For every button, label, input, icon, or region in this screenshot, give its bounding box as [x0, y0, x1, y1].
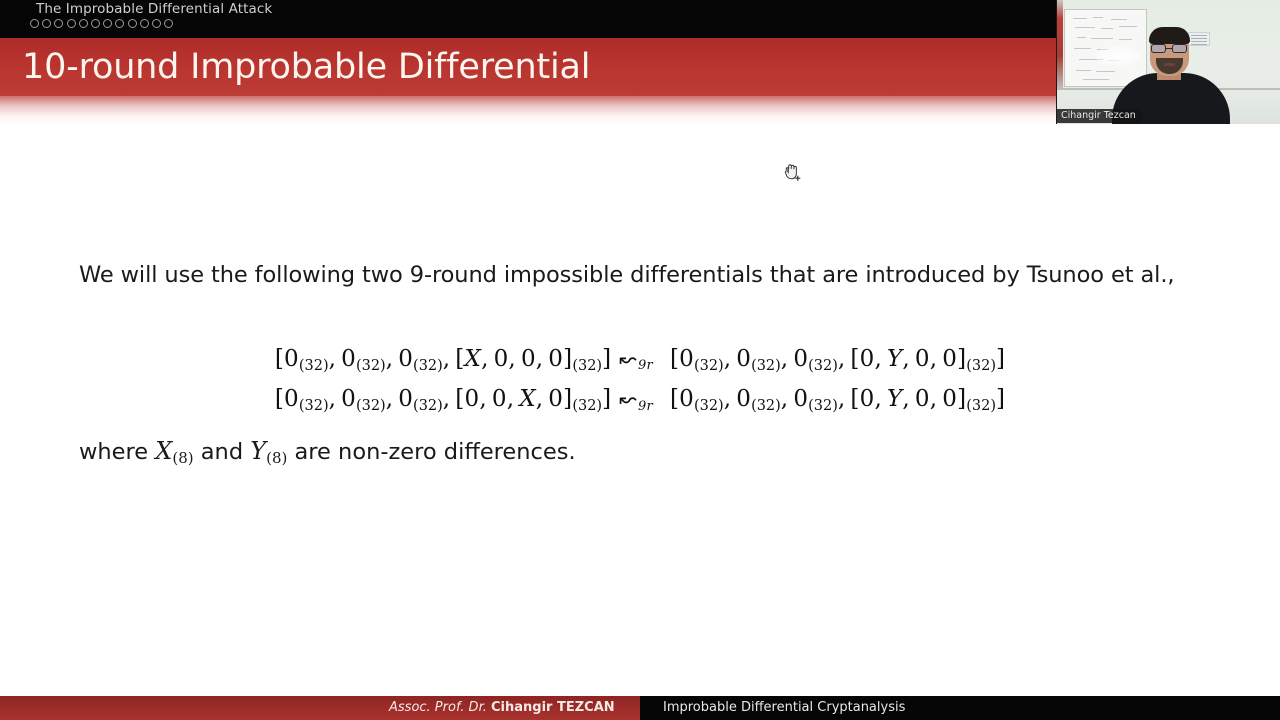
slide-footer: Assoc. Prof. Dr. Cihangir TEZCAN Improba… [0, 696, 1280, 720]
equation-row-2: [0(32),0(32),0(32),[0,0,X,0](32)]↜9r[0(3… [0, 383, 1280, 422]
not-implies-arrow-icon: ↜ [619, 343, 637, 375]
footer-author-name: Cihangir TEZCAN [491, 700, 615, 715]
equation-2-relation-subscript: 9r [638, 399, 653, 414]
where-variable-y: Y [250, 437, 266, 465]
webcam-person-mouth [1164, 63, 1175, 66]
webcam-whiteboard-glare [1095, 46, 1141, 66]
where-conjunction: and [201, 439, 243, 465]
equation-2-right: [0(32),0(32),0(32),[0,Y,0,0](32)] [670, 386, 1005, 412]
presentation-slide: The Improbable Differential Attack 10-ro… [0, 0, 1280, 720]
webcam-wall-note [1188, 32, 1210, 46]
webcam-wall-red-strip [1057, 0, 1063, 92]
webcam-whiteboard [1064, 9, 1147, 87]
navigation-slide-dot[interactable] [128, 19, 137, 28]
where-prefix: where [79, 439, 148, 465]
equation-2-relation: ↜9r [619, 383, 653, 422]
equation-2-left: [0(32),0(32),0(32),[0,0,X,0](32)] [275, 386, 611, 412]
webcam-participant-name-label: Cihangir Tezcan [1057, 109, 1142, 123]
navigation-slide-dot[interactable] [152, 19, 161, 28]
where-clause: where X(8) and Y(8) are non-zero differe… [79, 435, 576, 474]
navigation-slide-dot[interactable] [42, 19, 51, 28]
not-implies-arrow-icon: ↜ [619, 383, 637, 415]
navigation-slide-dot[interactable] [67, 19, 76, 28]
webcam-person-glasses [1150, 44, 1189, 53]
webcam-glasses-left-lens [1151, 44, 1166, 53]
navigation-slide-dot[interactable] [164, 19, 173, 28]
navigation-slide-dot[interactable] [103, 19, 112, 28]
equation-1-relation: ↜9r [619, 343, 653, 382]
where-variable-x: X [155, 437, 172, 465]
equation-1-relation-subscript: 9r [638, 358, 653, 373]
navigation-slide-dot[interactable] [79, 19, 88, 28]
navigation-slide-dot[interactable] [115, 19, 124, 28]
footer-author: Assoc. Prof. Dr. Cihangir TEZCAN [389, 700, 615, 715]
footer-talk-title: Improbable Differential Cryptanalysis [663, 700, 905, 715]
webcam-video-overlay[interactable]: Cihangir Tezcan [1056, 0, 1280, 124]
navigation-slide-dot[interactable] [54, 19, 63, 28]
page-title: 10-round Improbable Differential [22, 44, 590, 90]
webcam-glasses-right-lens [1172, 44, 1187, 53]
slide-body: We will use the following two 9-round im… [0, 130, 1280, 690]
equation-1-right: [0(32),0(32),0(32),[0,Y,0,0](32)] [670, 346, 1005, 372]
navigation-slide-dot[interactable] [140, 19, 149, 28]
intro-paragraph: We will use the following two 9-round im… [79, 258, 1201, 293]
where-suffix: are non-zero differences. [295, 439, 576, 465]
equation-row-1: [0(32),0(32),0(32),[X,0,0,0](32)]↜9r[0(3… [0, 343, 1280, 382]
navigation-slide-dots[interactable] [30, 19, 173, 28]
navigation-slide-dot[interactable] [30, 19, 39, 28]
navigation-section-title: The Improbable Differential Attack [36, 1, 272, 17]
footer-author-title: Assoc. Prof. Dr. [389, 700, 487, 715]
where-variable-y-subscript: (8) [266, 449, 287, 467]
where-variable-x-subscript: (8) [172, 449, 193, 467]
webcam-person-hair [1149, 27, 1190, 44]
equation-block: [0(32),0(32),0(32),[X,0,0,0](32)]↜9r[0(3… [0, 343, 1280, 423]
equation-1-left: [0(32),0(32),0(32),[X,0,0,0](32)] [275, 346, 611, 372]
navigation-slide-dot[interactable] [91, 19, 100, 28]
